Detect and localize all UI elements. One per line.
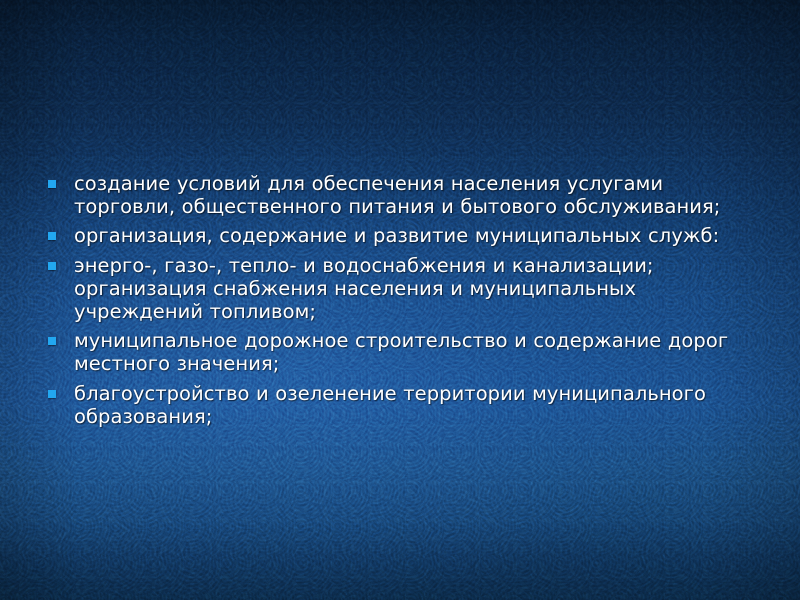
square-bullet-icon [48,180,56,188]
presentation-slide: создание условий для обеспечения населен… [0,0,800,600]
list-item[interactable]: муниципальное дорожное строительство и с… [44,329,756,375]
square-bullet-icon [48,337,56,345]
bullet-text: благоустройство и озеленение территории … [74,382,756,428]
slide-content-body: создание условий для обеспечения населен… [44,172,756,428]
bullet-list: создание условий для обеспечения населен… [44,172,756,428]
list-item[interactable]: энерго-, газо-, тепло- и водоснабжения и… [44,254,756,324]
square-bullet-icon [48,232,56,240]
bullet-text: муниципальное дорожное строительство и с… [74,329,756,375]
square-bullet-icon [48,262,56,270]
list-item[interactable]: организация, содержание и развитие муниц… [44,224,756,247]
list-item[interactable]: благоустройство и озеленение территории … [44,382,756,428]
list-item[interactable]: создание условий для обеспечения населен… [44,172,756,218]
bullet-text: организация, содержание и развитие муниц… [74,224,756,247]
bullet-text: создание условий для обеспечения населен… [74,172,756,218]
square-bullet-icon [48,390,56,398]
bullet-text: энерго-, газо-, тепло- и водоснабжения и… [74,254,756,324]
